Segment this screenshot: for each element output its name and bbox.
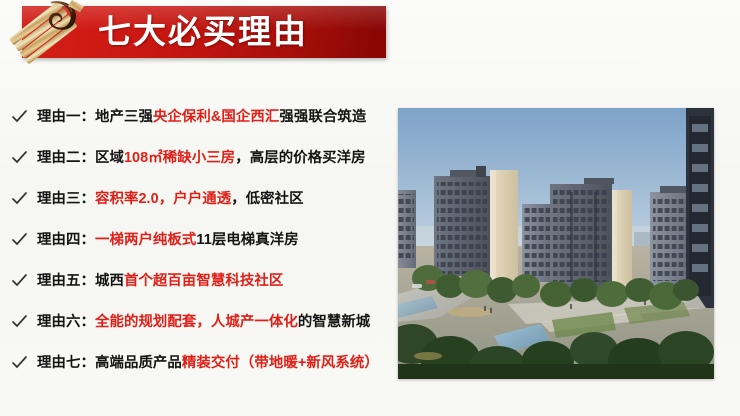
reason-segment: 地产三强	[95, 109, 153, 125]
slide-canvas: 七大必买理由	[0, 0, 740, 416]
checkmark-icon	[8, 192, 30, 205]
reason-segment-highlight: 央企保利&国企西汇	[153, 109, 279, 125]
reason-label: 理由五：	[37, 273, 95, 289]
reason-segment: 城西	[95, 273, 124, 289]
reason-text: 理由二：区域108㎡稀缺小三房，高层的价格买洋房	[37, 149, 366, 167]
reason-segment: 区域	[95, 150, 124, 166]
checkmark-icon	[8, 315, 30, 328]
reason-segment-highlight: 首个超百亩智慧科技社区	[124, 273, 283, 289]
reason-segment: ，高层的价格买洋房	[235, 150, 365, 166]
list-item: 理由三：容积率2.0，户户通透，低密社区	[0, 178, 410, 219]
reason-segment-highlight: 精装交付（带地暖+新风系统）	[182, 355, 379, 371]
reason-text: 理由七：高端品质产品精装交付（带地暖+新风系统）	[37, 354, 379, 372]
reason-text: 理由五：城西首个超百亩智慧科技社区	[37, 272, 283, 290]
reason-label: 理由七：	[37, 355, 95, 371]
reason-label: 理由一：	[37, 109, 95, 125]
title-banner: 七大必买理由	[22, 6, 386, 58]
reason-segment: 11层电梯真洋房	[196, 232, 298, 248]
list-item: 理由四：一梯两户纯板式11层电梯真洋房	[0, 219, 410, 260]
checkmark-icon	[8, 233, 30, 246]
list-item: 理由七：高端品质产品精装交付（带地暖+新风系统）	[0, 342, 410, 383]
residential-complex-rendering	[398, 108, 714, 379]
reason-segment: 强强联合筑造	[279, 109, 366, 125]
reason-text: 理由四：一梯两户纯板式11层电梯真洋房	[37, 231, 299, 249]
reason-segment-highlight: 一梯两户纯板式	[95, 232, 196, 248]
reason-segment-highlight: 容积率2.0，户户通透	[95, 191, 231, 207]
list-item: 理由一：地产三强央企保利&国企西汇强强联合筑造	[0, 96, 410, 137]
list-item: 理由六：全能的规划配套，人城产一体化的智慧新城	[0, 301, 410, 342]
reason-label: 理由三：	[37, 191, 95, 207]
checkmark-icon	[8, 356, 30, 369]
checkmark-icon	[8, 110, 30, 123]
reason-segment: 高端品质产品	[95, 355, 182, 371]
reason-segment-highlight: 108㎡稀缺小三房	[124, 150, 235, 166]
reason-label: 理由六：	[37, 314, 95, 330]
reason-text: 理由六：全能的规划配套，人城产一体化的智慧新城	[37, 313, 370, 331]
list-item: 理由二：区域108㎡稀缺小三房，高层的价格买洋房	[0, 137, 410, 178]
reason-segment-highlight: 全能的规划配套，人城产一体化	[95, 314, 298, 330]
checkmark-icon	[8, 151, 30, 164]
reason-text: 理由三：容积率2.0，户户通透，低密社区	[37, 190, 304, 208]
reason-label: 理由四：	[37, 232, 95, 248]
reason-text: 理由一：地产三强央企保利&国企西汇强强联合筑造	[37, 108, 366, 126]
reason-list: 理由一：地产三强央企保利&国企西汇强强联合筑造 理由二：区域108㎡稀缺小三房，…	[0, 96, 410, 383]
checkmark-icon	[8, 274, 30, 287]
reason-segment: 的智慧新城	[298, 314, 370, 330]
reason-label: 理由二：	[37, 150, 95, 166]
reason-segment: ，低密社区	[231, 191, 303, 207]
page-title: 七大必买理由	[98, 11, 308, 53]
list-item: 理由五：城西首个超百亩智慧科技社区	[0, 260, 410, 301]
